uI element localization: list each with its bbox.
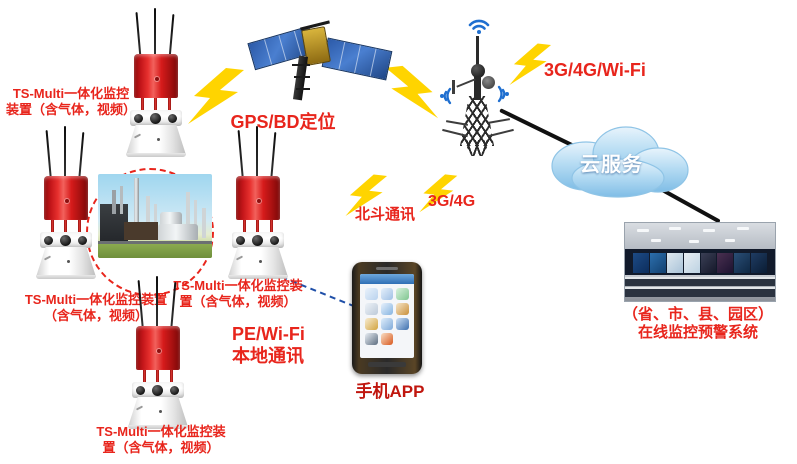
app-icon-grid[interactable] bbox=[365, 288, 409, 345]
device-mid-right bbox=[218, 130, 304, 280]
handheld-app-device[interactable] bbox=[352, 262, 422, 374]
phone-screen[interactable] bbox=[360, 274, 414, 358]
wifi-signal-top-icon bbox=[467, 16, 491, 39]
cloud-service-label: 云服务 bbox=[580, 148, 643, 177]
link-label-gps-bd: GPS/BD定位 bbox=[218, 112, 348, 134]
wifi-signal-left-icon bbox=[437, 86, 455, 111]
satellite-icon bbox=[248, 8, 388, 108]
device-bottom bbox=[118, 280, 204, 430]
phone-app-label: 手机APP bbox=[340, 382, 440, 403]
device-top-left bbox=[116, 8, 202, 158]
link-label-local-comm: PE/Wi-Fi 本地通讯 bbox=[232, 324, 352, 368]
link-label-cellular: 3G/4G bbox=[428, 192, 500, 212]
control-room-photo bbox=[624, 222, 776, 302]
cloud-service-node: 云服务 bbox=[540, 120, 700, 204]
link-label-cellular-wifi: 3G/4G/Wi-Fi bbox=[544, 60, 684, 82]
device-bottom-label: TS-Multi一体化监控装 置（含气体，视频） bbox=[76, 424, 246, 456]
diagram-canvas: 云服务 bbox=[0, 0, 797, 464]
link-label-beidou: 北斗通讯 bbox=[340, 206, 430, 224]
device-mid-left bbox=[26, 130, 112, 280]
control-room-label: （省、市、县、园区） 在线监控预警系统 bbox=[600, 306, 796, 343]
device-top-left-label: TS-Multi一体化监控 装置（含气体，视频） bbox=[0, 86, 146, 118]
industrial-plant-photo bbox=[98, 174, 212, 258]
wifi-signal-right-icon bbox=[494, 84, 512, 109]
communication-tower-icon bbox=[432, 18, 524, 158]
